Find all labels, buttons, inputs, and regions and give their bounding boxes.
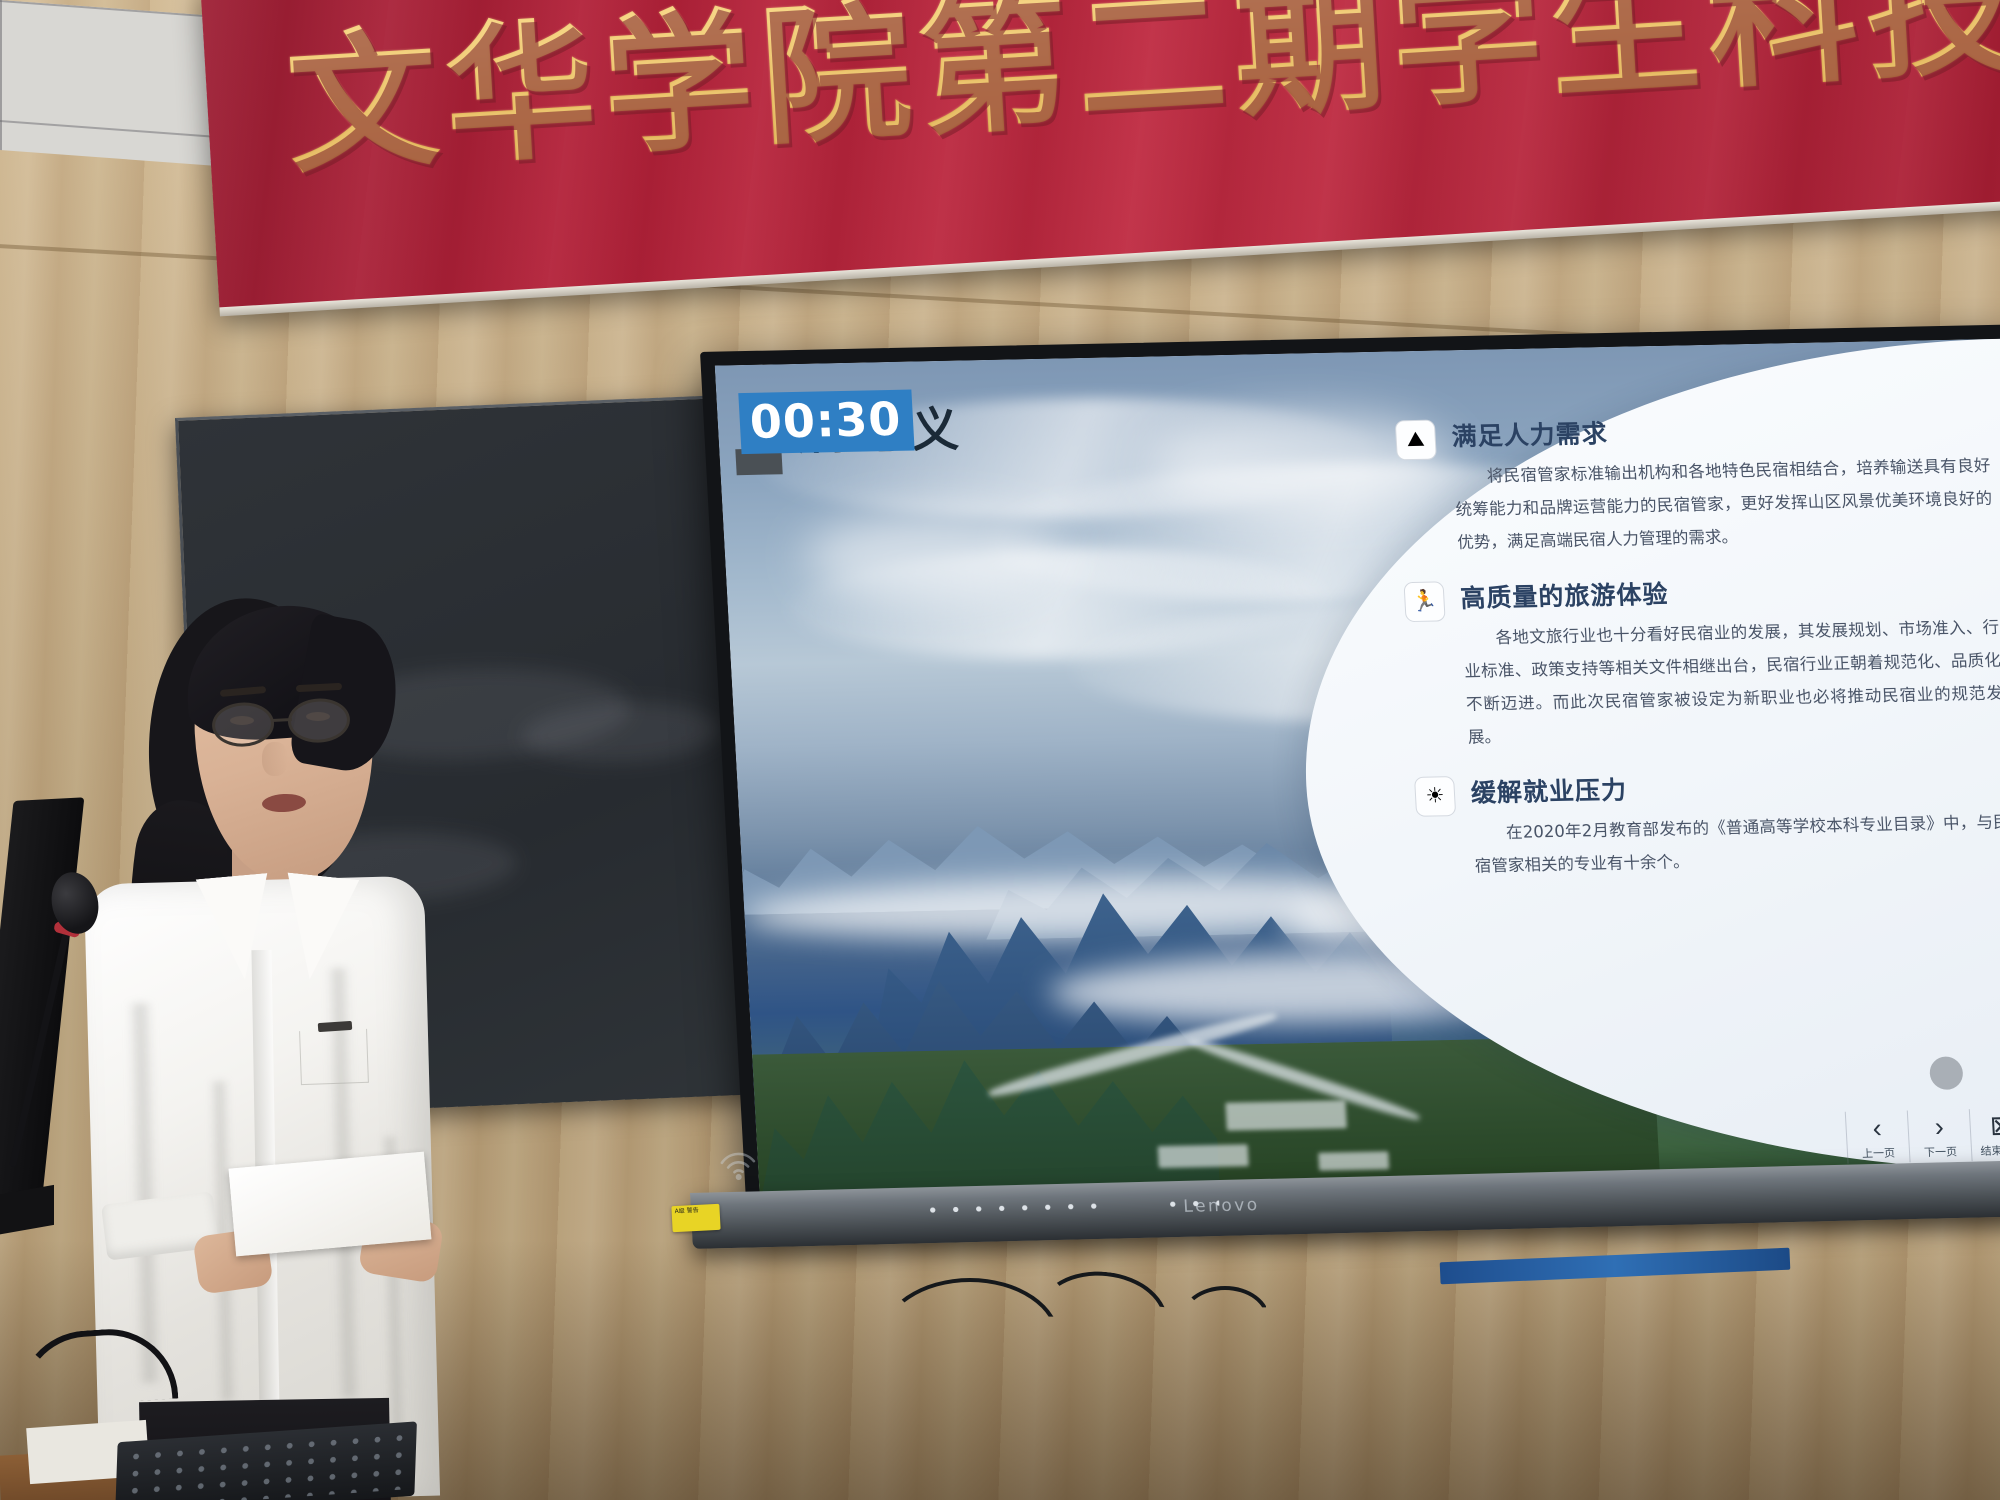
section-text: 在2020年2月教育部发布的《普通高等学校本科专业目录》中，与民宿管家相关的专业…	[1472, 805, 2000, 882]
section-text: 各地文旅行业也十分看好民宿业的发展，其发展规划、市场准入、行业标准、政策支持等相…	[1462, 610, 2000, 753]
lenovo-logo: Lenovo	[1183, 1195, 1260, 1217]
slide-navigation-bar[interactable]: ‹ 上一页 › 下一页 ⊠ 结束放映	[1845, 1108, 2000, 1164]
chevron-left-icon: ‹	[1872, 1115, 1882, 1142]
traveler-icon-glyph: 🏃	[1411, 591, 1438, 613]
sun-icon: ☀	[1414, 776, 1456, 817]
end-show-button[interactable]: ⊠ 结束放映	[1969, 1108, 2000, 1161]
end-show-icon: ⊠	[1989, 1112, 2000, 1139]
sun-icon-glyph: ☀	[1425, 785, 1445, 806]
lens	[211, 701, 275, 748]
slide-section: ☀ 缓解就业压力 在2020年2月教育部发布的《普通高等学校本科专业目录》中，与…	[1414, 762, 2000, 883]
nose	[262, 742, 288, 776]
countdown-timer: 00:30	[738, 390, 915, 455]
slide-section: 🏃 高质量的旅游体验 各地文旅行业也十分看好民宿业的发展，其发展规划、市场准入、…	[1403, 567, 2000, 754]
keyboard-keys[interactable]	[123, 1429, 408, 1500]
section-text: 将民宿管家标准输出机构和各地特色民宿相结合，培养输送具有良好统筹能力和品牌运营能…	[1453, 448, 1995, 558]
section-title: 高质量的旅游体验	[1459, 567, 1997, 614]
previous-page-button[interactable]: ‹ 上一页	[1845, 1110, 1910, 1163]
section-title: 缓解就业压力	[1470, 762, 2000, 809]
next-page-button[interactable]: › 下一页	[1907, 1109, 1972, 1162]
interactive-whiteboard-display[interactable]: ⛰ 满足人力需求 将民宿管家标准输出机构和各地特色民宿相结合，培养输送具有良好统…	[700, 324, 2000, 1210]
mountain-icon: ⛰	[1395, 419, 1437, 460]
traveler-icon: 🏃	[1403, 581, 1445, 622]
wireless-signal-icon	[709, 1139, 767, 1190]
shirt-pocket	[299, 1029, 369, 1085]
mountain-icon-glyph: ⛰	[1406, 429, 1425, 450]
presentation-room-photo: 文华学院第二期学生科技创新项目	[0, 0, 2000, 1500]
end-show-label: 结束放映	[1980, 1142, 2000, 1159]
note-card	[229, 1152, 432, 1257]
previous-page-label: 上一页	[1862, 1145, 1896, 1162]
warning-sticker: A级 警告	[671, 1204, 720, 1232]
lens	[287, 697, 351, 744]
eyeglasses	[211, 696, 373, 748]
speaker-grille	[921, 1199, 1112, 1218]
slide-screen[interactable]: ⛰ 满足人力需求 将民宿管家标准输出机构和各地特色民宿相结合，培养输送具有良好统…	[715, 339, 2000, 1197]
slide-section: ⛰ 满足人力需求 将民宿管家标准输出机构和各地特色民宿相结合，培养输送具有良好统…	[1395, 406, 1995, 560]
slide-sections: ⛰ 满足人力需求 将民宿管家标准输出机构和各地特色民宿相结合，培养输送具有良好统…	[1395, 406, 2000, 1133]
next-page-label: 下一页	[1924, 1143, 1958, 1160]
chevron-right-icon: ›	[1934, 1114, 1944, 1141]
